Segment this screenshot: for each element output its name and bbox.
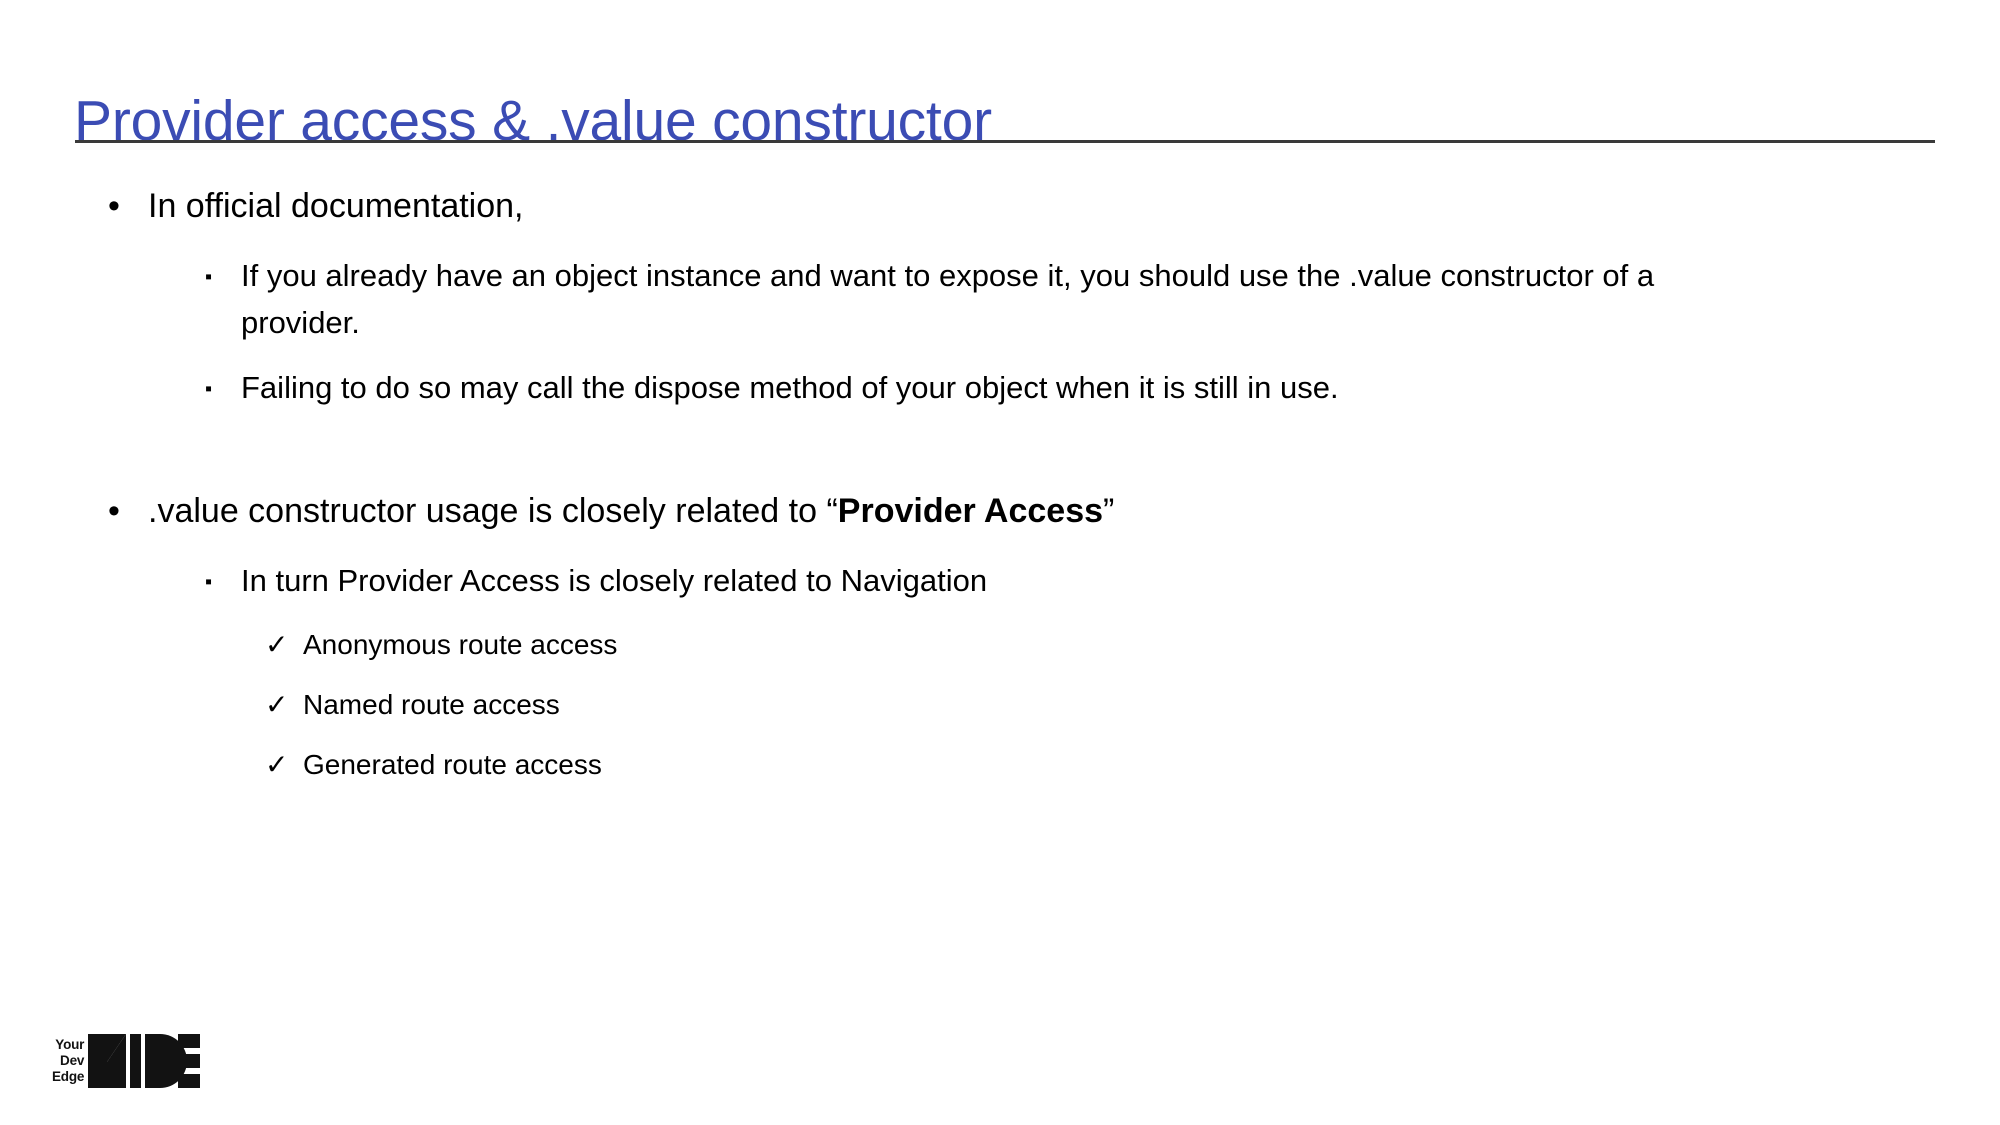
page-title: Provider access & .value constructor	[74, 90, 992, 154]
bullet-text: In official documentation,	[148, 180, 524, 232]
bullet-text-emphasis: Provider Access	[838, 492, 1103, 530]
bullet-text: If you already have an object instance a…	[241, 252, 1741, 346]
checkmark-bullet-icon: ✓	[265, 682, 303, 728]
yde-monogram-icon	[88, 1032, 200, 1090]
bullet-item-level3: ✓ Generated route access	[0, 742, 2000, 788]
round-bullet-icon: •	[108, 180, 148, 232]
brand-logo-line3: Edge	[52, 1069, 84, 1085]
bullet-item-level3: ✓ Named route access	[0, 682, 2000, 728]
square-bullet-icon: ▪	[205, 557, 241, 607]
brand-logo-line2: Dev	[60, 1053, 84, 1069]
square-bullet-icon: ▪	[205, 252, 241, 302]
bullet-text: Named route access	[303, 682, 560, 728]
slide: Provider access & .value constructor • I…	[0, 0, 2000, 1125]
round-bullet-icon: •	[108, 485, 148, 537]
brand-logo: Your Dev Edge	[52, 1029, 200, 1093]
bullet-text-prefix: .value constructor usage is closely rela…	[148, 492, 838, 530]
bullet-item-level1: • In official documentation,	[0, 180, 2000, 232]
bullet-text: Anonymous route access	[303, 622, 617, 668]
bullet-text: In turn Provider Access is closely relat…	[241, 557, 987, 604]
bullet-item-level2: ▪ In turn Provider Access is closely rel…	[0, 557, 2000, 604]
bullet-text-suffix: ”	[1103, 492, 1114, 530]
title-divider	[75, 140, 1935, 143]
bullet-text: Generated route access	[303, 742, 602, 788]
slide-body: • In official documentation, ▪ If you al…	[0, 180, 2000, 802]
bullet-text: Failing to do so may call the dispose me…	[241, 364, 1339, 411]
brand-logo-wordmark: Your Dev Edge	[52, 1032, 84, 1090]
checkmark-bullet-icon: ✓	[265, 742, 303, 788]
bullet-item-level2: ▪ If you already have an object instance…	[0, 252, 2000, 346]
bullet-item-level1: • .value constructor usage is closely re…	[0, 485, 2000, 537]
square-bullet-icon: ▪	[205, 364, 241, 414]
bullet-item-level3: ✓ Anonymous route access	[0, 622, 2000, 668]
brand-logo-line1: Your	[55, 1037, 84, 1053]
bullet-item-level2: ▪ Failing to do so may call the dispose …	[0, 364, 2000, 411]
section-spacer	[0, 429, 2000, 485]
checkmark-bullet-icon: ✓	[265, 622, 303, 668]
bullet-text: .value constructor usage is closely rela…	[148, 485, 1114, 537]
